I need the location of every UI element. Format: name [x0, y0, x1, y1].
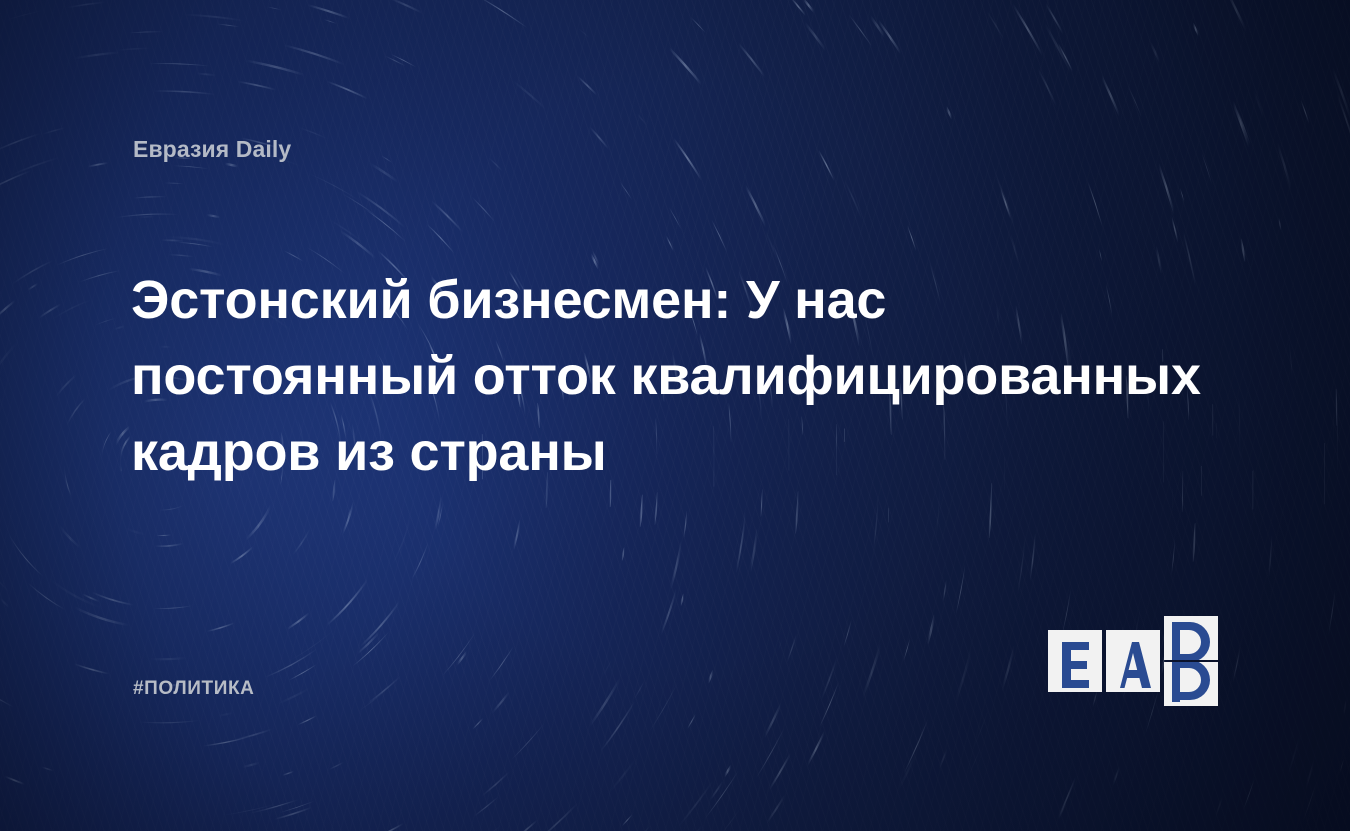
logo-tile-a — [1106, 630, 1160, 692]
card-content: Евразия Daily Эстонский бизнесмен: У нас… — [0, 0, 1350, 831]
category-tag[interactable]: #ПОЛИТИКА — [133, 678, 255, 700]
social-share-card: Евразия Daily Эстонский бизнесмен: У нас… — [0, 0, 1350, 831]
brand-name: Евразия Daily — [133, 136, 291, 163]
logo-tile-d — [1164, 616, 1218, 706]
logo-tile-e — [1048, 630, 1102, 692]
page-title: Эстонский бизнесмен: У нас постоянный от… — [131, 262, 1221, 490]
eadaily-logo[interactable] — [1046, 616, 1222, 706]
